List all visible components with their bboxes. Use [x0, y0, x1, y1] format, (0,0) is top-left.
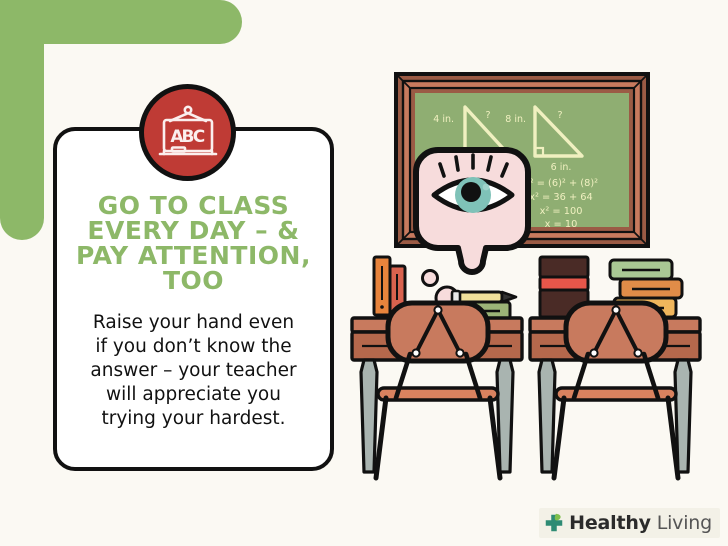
desk-left — [352, 257, 522, 478]
triangle-left-leg-label: 4 in. — [433, 114, 454, 125]
logo-bold-word: Healthy — [569, 512, 651, 534]
triangle-left-hyp-label: ? — [485, 110, 490, 121]
poster-canvas: GO TO CLASS EVERY DAY – & PAY ATTENTION,… — [0, 0, 728, 546]
chair-left — [376, 303, 500, 478]
bracket-vertical-arm — [0, 0, 44, 240]
page-title: GO TO CLASS EVERY DAY – & PAY ATTENTION,… — [76, 193, 311, 293]
book-orange — [374, 257, 390, 315]
equation-right-3: x = 10 — [545, 219, 578, 230]
logo-wordmark: Healthy Living — [569, 512, 712, 534]
triangle-right-leg-label: 8 in. — [505, 114, 526, 125]
chair-right — [554, 303, 678, 478]
logo-light-word: Living — [657, 512, 712, 534]
chalkboard-icon: A B C — [156, 104, 220, 162]
healthy-living-logo[interactable]: Healthy Living — [539, 508, 720, 538]
bracket-horizontal-arm — [0, 0, 242, 44]
equation-right-1: x² = 36 + 64 — [529, 192, 593, 203]
equation-right-2: x² = 100 — [540, 206, 583, 217]
tip-body-text: Raise your hand even if you don’t know t… — [90, 311, 296, 431]
abc-chalkboard-badge: A B C — [139, 84, 236, 181]
eye-thought-bubble — [416, 150, 528, 272]
triangle-right-hyp-label: ? — [557, 110, 562, 121]
triangle-right-base-label: 6 in. — [551, 162, 572, 173]
plus-leaf-icon — [543, 512, 565, 534]
classroom-illustration: 4 in. ? 8 in. ? 6 in. n. (4)² 6 — [334, 60, 728, 490]
desk-right — [530, 257, 700, 478]
equation-right-0: x² = (6)² + (8)² — [524, 178, 598, 189]
classroom-scene-svg: 4 in. ? 8 in. ? 6 in. n. (4)² 6 — [334, 60, 728, 490]
badge-letter-c: C — [192, 127, 204, 147]
